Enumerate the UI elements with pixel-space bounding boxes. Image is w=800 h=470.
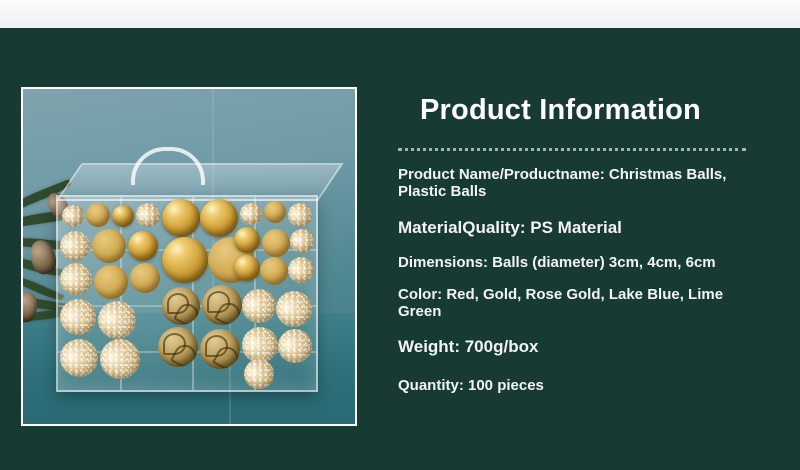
clear-plastic-box xyxy=(56,195,318,392)
spec-product-name: Product Name/Productname: Christmas Ball… xyxy=(398,166,743,200)
page-title: Product Information xyxy=(420,87,770,127)
product-photo xyxy=(21,87,357,426)
product-information-panel: Product Information Product Name/Product… xyxy=(398,87,770,394)
dotted-divider xyxy=(398,148,746,151)
spec-quantity: Quantity: 100 pieces xyxy=(398,377,770,394)
product-banner: Product Information Product Name/Product… xyxy=(0,0,800,470)
spec-weight: Weight: 700g/box xyxy=(398,336,770,357)
spec-dimensions: Dimensions: Balls (diameter) 3cm, 4cm, 6… xyxy=(398,254,770,271)
spec-color: Color: Red, Gold, Rose Gold, Lake Blue, … xyxy=(398,286,743,320)
spec-material-quality: MaterialQuality: PS Material xyxy=(398,217,770,238)
box-handle xyxy=(131,147,205,185)
spec-list: Product Name/Productname: Christmas Ball… xyxy=(398,166,770,394)
top-white-strip xyxy=(0,0,800,28)
product-photo-scene xyxy=(23,89,355,424)
